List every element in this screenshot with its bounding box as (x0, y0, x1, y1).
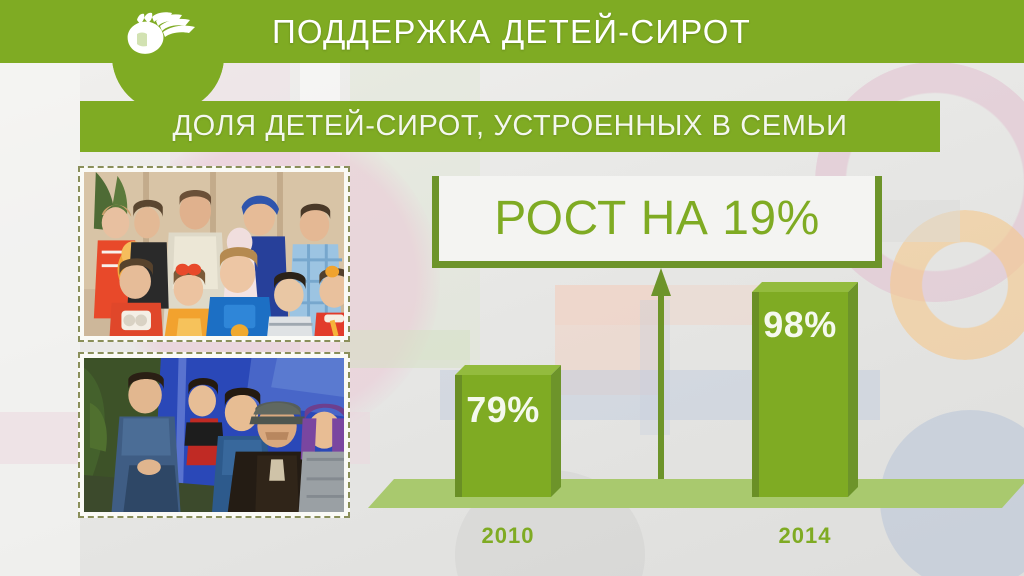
photo-large-family-indoor (78, 166, 350, 342)
subtitle-banner: ДОЛЯ ДЕТЕЙ-СИРОТ, УСТРОЕННЫХ В СЕМЬИ (80, 101, 940, 152)
growth-callout: РОСТ НА 19% (432, 176, 882, 268)
background-shape-green-band (340, 330, 470, 368)
axis-label-2014: 2014 (752, 523, 858, 549)
bar-2010-top-face (455, 365, 561, 375)
callout-bottom-bracket (432, 261, 882, 268)
bar-2014-side-face (848, 282, 858, 497)
bar-2010-side-face (551, 365, 561, 497)
bar-2010: 79% (455, 365, 561, 497)
bar-2014: 98% (752, 282, 858, 497)
bar-2010-value-label: 79% (455, 389, 551, 431)
callout-text: РОСТ НА 19% (432, 176, 882, 262)
hand-wing-icon (122, 8, 202, 60)
background-shape-white-strip (0, 60, 80, 576)
page-title: ПОДДЕРЖКА ДЕТЕЙ-СИРОТ (272, 9, 751, 55)
bar-2014-value-label: 98% (752, 304, 848, 346)
bar-2014-top-face (752, 282, 858, 292)
photo-family-outdoor-tent (78, 352, 350, 518)
subtitle-text: ДОЛЯ ДЕТЕЙ-СИРОТ, УСТРОЕННЫХ В СЕМЬИ (80, 101, 940, 152)
arrow-shaft (658, 290, 664, 500)
axis-label-2010: 2010 (455, 523, 561, 549)
infographic-slide: ПОДДЕРЖКА ДЕТЕЙ-СИРОТ ДОЛЯ ДЕТЕЙ-СИРОТ, … (0, 0, 1024, 576)
arrow-up-icon (648, 268, 674, 500)
